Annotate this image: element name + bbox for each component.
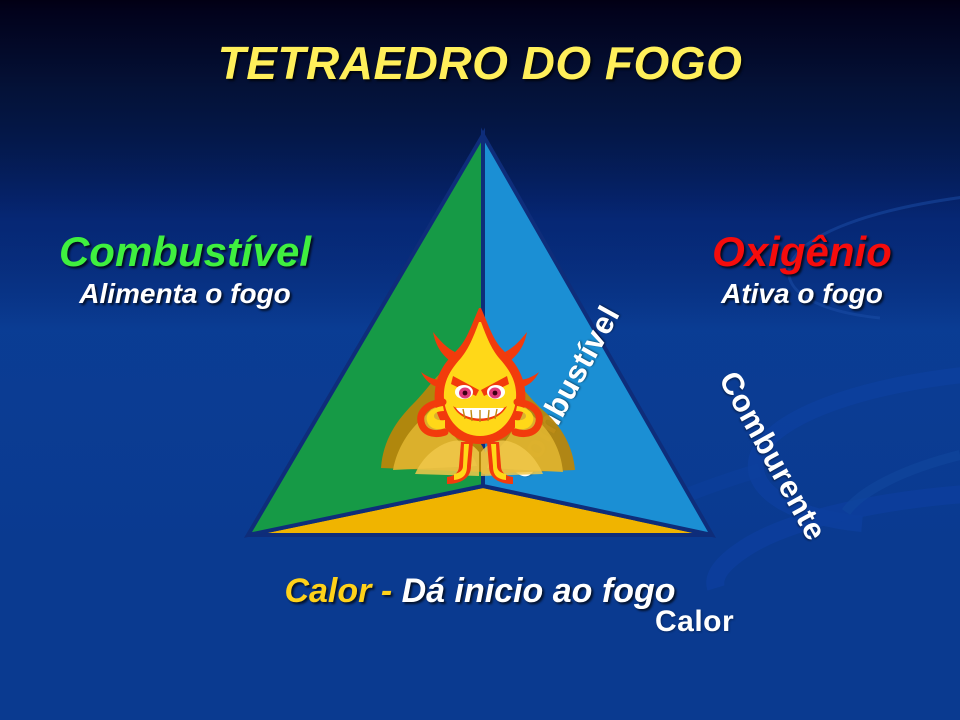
slide: TETRAEDRO DO FOGO Combustível Alimenta o… bbox=[0, 0, 960, 720]
page-title: TETRAEDRO DO FOGO bbox=[0, 36, 960, 90]
heat-caption-term: Calor - bbox=[284, 572, 392, 610]
tetrahedron-shape bbox=[230, 118, 730, 548]
heat-caption-definition: Dá inicio ao fogo bbox=[402, 572, 676, 610]
tetrahedron-left-face bbox=[248, 135, 483, 535]
fire-tetrahedron-diagram: Combustível Comburente Calor bbox=[230, 118, 730, 548]
heat-caption: Calor - Dá inicio ao fogo bbox=[0, 572, 960, 611]
